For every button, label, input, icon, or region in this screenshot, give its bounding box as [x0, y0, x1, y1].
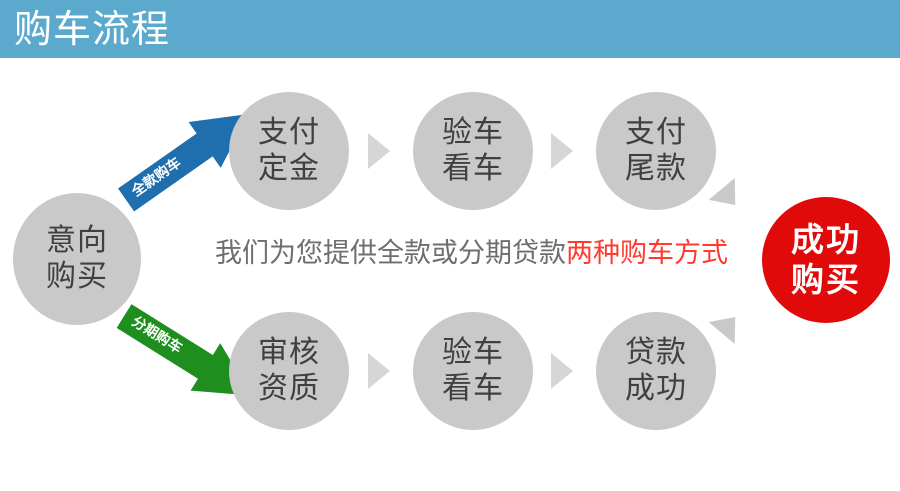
node-purchase-success[interactable]: 成功 购买 [762, 197, 890, 323]
node-line-2: 看车 [442, 151, 504, 187]
header-banner: 购车流程 [0, 0, 900, 58]
node-inspect-car-bottom[interactable]: 验车 看车 [413, 312, 533, 430]
node-line-1: 意向 [46, 223, 108, 259]
chevron-right-icon-top-2 [551, 133, 573, 169]
node-line-1: 验车 [442, 115, 504, 151]
chevron-right-icon-top-1 [368, 133, 390, 169]
node-line-1: 支付 [625, 115, 687, 151]
purchase-flow-infographic: 购车流程 意向 购买 全款购车 分期购车 支付 定金 验车 看车 支付 尾款 审… [0, 0, 900, 491]
node-line-2: 尾款 [625, 151, 687, 187]
node-line-1: 支付 [258, 115, 320, 151]
center-note-red-text: 两种购车方式 [566, 238, 728, 269]
center-note-gray-text: 我们为您提供全款或分期贷款 [215, 238, 566, 269]
page-title: 购车流程 [14, 3, 170, 55]
node-loan-approved[interactable]: 贷款 成功 [596, 312, 716, 430]
node-pay-deposit[interactable]: 支付 定金 [229, 92, 349, 210]
node-line-1: 成功 [791, 220, 861, 260]
node-intent-to-buy[interactable]: 意向 购买 [13, 193, 141, 325]
chevron-right-icon-bottom-1 [368, 353, 390, 389]
node-line-1: 验车 [442, 335, 504, 371]
node-line-2: 看车 [442, 371, 504, 407]
funnel-triangle-icon-bottom [709, 306, 749, 344]
center-note: 我们为您提供全款或分期贷款两种购车方式 [215, 236, 728, 272]
node-line-1: 审核 [258, 335, 320, 371]
node-line-2: 资质 [258, 371, 320, 407]
node-review-qualification[interactable]: 审核 资质 [229, 312, 349, 430]
funnel-triangle-icon-top [709, 178, 749, 216]
node-line-2: 购买 [791, 260, 861, 300]
chevron-right-icon-bottom-2 [551, 353, 573, 389]
node-line-2: 购买 [46, 259, 108, 295]
node-inspect-car-top[interactable]: 验车 看车 [413, 92, 533, 210]
node-pay-balance[interactable]: 支付 尾款 [596, 92, 716, 210]
node-line-2: 成功 [625, 371, 687, 407]
node-line-1: 贷款 [625, 335, 687, 371]
node-line-2: 定金 [258, 151, 320, 187]
